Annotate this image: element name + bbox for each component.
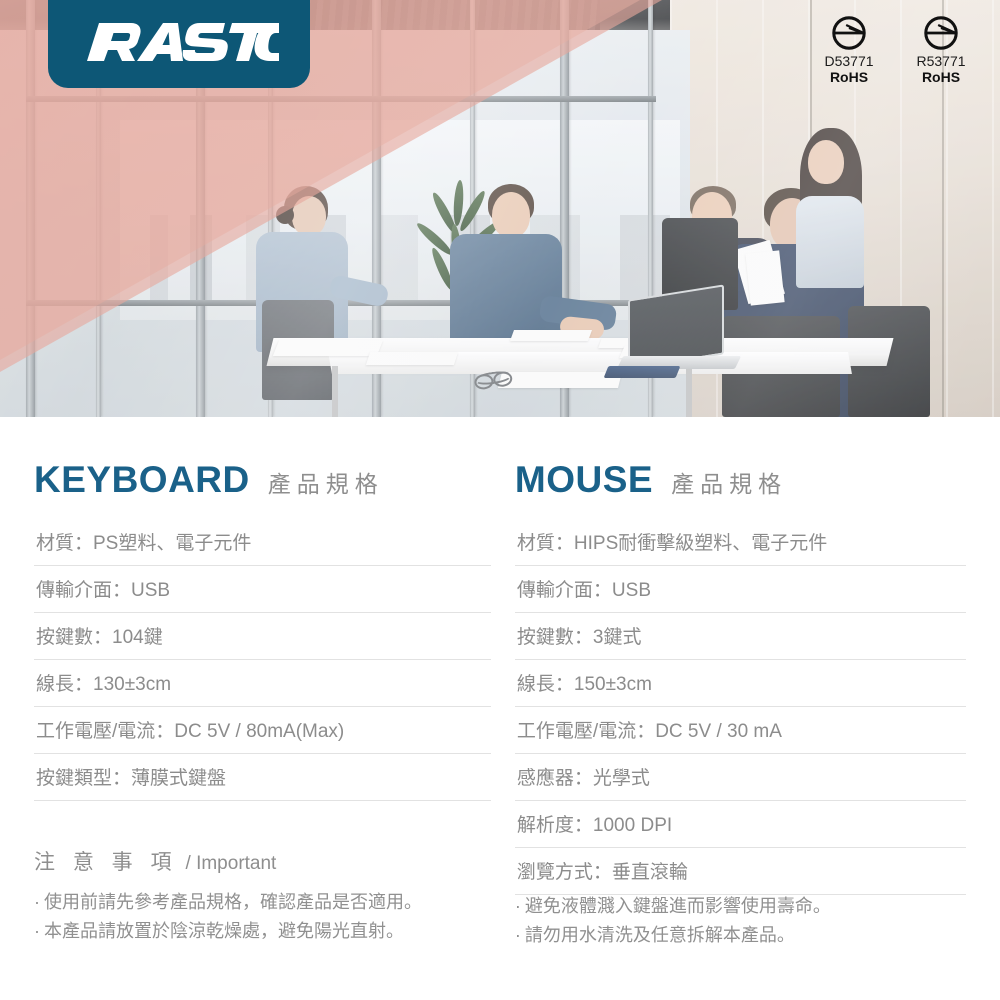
certification-label: RoHS bbox=[906, 69, 976, 86]
notes-title-en: / Important bbox=[186, 853, 277, 875]
spec-row: 按鍵類型：薄膜式鍵盤 bbox=[34, 754, 491, 801]
spec-row: 材質：HIPS耐衝擊級塑料、電子元件 bbox=[515, 519, 966, 566]
spec-row: 感應器：光學式 bbox=[515, 754, 966, 801]
mouse-section-heading: MOUSE 產品規格 bbox=[515, 459, 966, 501]
important-notes: 注 意 事 項 / Important ·使用前請先參考產品規格，確認產品是否適… bbox=[34, 846, 966, 950]
table-document bbox=[510, 330, 592, 341]
note-text: 本產品請放置於陰涼乾燥處，避免陽光直射。 bbox=[44, 921, 404, 941]
spec-row: 傳輸介面：USB bbox=[515, 566, 966, 613]
spec-row: 線長：130±3cm bbox=[34, 660, 491, 707]
section-title-zh: 產品規格 bbox=[671, 465, 787, 499]
note-bullet: · bbox=[515, 925, 521, 945]
blue-notebook bbox=[604, 366, 681, 378]
note-bullet: · bbox=[34, 892, 40, 912]
spec-row: 線長：150±3cm bbox=[515, 660, 966, 707]
table-document bbox=[366, 352, 458, 365]
certification-label: RoHS bbox=[814, 69, 884, 86]
spec-columns: KEYBOARD 產品規格 材質：PS塑料、電子元件 傳輸介面：USB 按鍵數：… bbox=[0, 417, 1000, 895]
certification-mark: D53771 RoHS bbox=[814, 14, 884, 86]
keyboard-section-heading: KEYBOARD 產品規格 bbox=[34, 459, 491, 501]
rohs-circle-arrow-icon bbox=[922, 14, 960, 52]
notes-heading: 注 意 事 項 / Important bbox=[34, 846, 491, 876]
notes-title-zh: 注 意 事 項 bbox=[34, 846, 178, 876]
city-skyline bbox=[150, 215, 670, 305]
table-leg bbox=[332, 366, 338, 417]
rohs-circle-arrow-icon bbox=[830, 14, 868, 52]
rasto-wordmark-icon bbox=[79, 17, 279, 71]
notes-right-column: ·避免液體濺入鍵盤進而影響使用壽命。 ·請勿用水清洗及任意拆解本產品。 bbox=[515, 846, 966, 950]
brand-logo-badge bbox=[48, 0, 310, 88]
note-text: 請勿用水清洗及任意拆解本產品。 bbox=[525, 925, 795, 945]
table-document bbox=[498, 372, 622, 388]
section-title-en: KEYBOARD bbox=[34, 459, 250, 501]
section-title-zh: 產品規格 bbox=[268, 465, 384, 499]
certification-mark: R53771 RoHS bbox=[906, 14, 976, 86]
spec-row: 工作電壓/電流：DC 5V / 30 mA bbox=[515, 707, 966, 754]
note-text: 避免液體濺入鍵盤進而影響使用壽命。 bbox=[525, 896, 831, 916]
notes-left-column: 注 意 事 項 / Important ·使用前請先參考產品規格，確認產品是否適… bbox=[34, 846, 491, 950]
keyboard-spec-list: 材質：PS塑料、電子元件 傳輸介面：USB 按鍵數：104鍵 線長：130±3c… bbox=[34, 519, 491, 801]
note-item: ·使用前請先參考產品規格，確認產品是否適用。 bbox=[34, 888, 491, 917]
note-bullet: · bbox=[34, 921, 40, 941]
window-mullion bbox=[26, 0, 35, 417]
certification-code: R53771 bbox=[906, 54, 976, 69]
table-document bbox=[273, 340, 383, 356]
note-item: ·本產品請放置於陰涼乾燥處，避免陽光直射。 bbox=[34, 917, 491, 946]
spec-row: 解析度：1000 DPI bbox=[515, 801, 966, 848]
certification-code: D53771 bbox=[814, 54, 884, 69]
table-leg bbox=[686, 366, 692, 417]
mouse-spec-section: MOUSE 產品規格 材質：HIPS耐衝擊級塑料、電子元件 傳輸介面：USB 按… bbox=[515, 459, 966, 895]
spec-row: 按鍵數：104鍵 bbox=[34, 613, 491, 660]
held-document bbox=[745, 250, 784, 305]
mouse-spec-list: 材質：HIPS耐衝擊級塑料、電子元件 傳輸介面：USB 按鍵數：3鍵式 線長：1… bbox=[515, 519, 966, 895]
section-title-en: MOUSE bbox=[515, 459, 653, 501]
spec-row: 材質：PS塑料、電子元件 bbox=[34, 519, 491, 566]
keyboard-spec-section: KEYBOARD 產品規格 材質：PS塑料、電子元件 傳輸介面：USB 按鍵數：… bbox=[34, 459, 491, 895]
note-text: 使用前請先參考產品規格，確認產品是否適用。 bbox=[44, 892, 422, 912]
window-transom bbox=[26, 96, 656, 102]
spec-row: 按鍵數：3鍵式 bbox=[515, 613, 966, 660]
note-bullet: · bbox=[515, 896, 521, 916]
spec-row: 傳輸介面：USB bbox=[34, 566, 491, 613]
certification-marks: D53771 RoHS R53771 RoHS bbox=[814, 14, 976, 86]
spec-row: 工作電壓/電流：DC 5V / 80mA(Max) bbox=[34, 707, 491, 754]
note-item: ·避免液體濺入鍵盤進而影響使用壽命。 bbox=[515, 892, 966, 921]
hero-banner: D53771 RoHS R53771 RoHS bbox=[0, 0, 1000, 417]
note-item: ·請勿用水清洗及任意拆解本產品。 bbox=[515, 921, 966, 950]
